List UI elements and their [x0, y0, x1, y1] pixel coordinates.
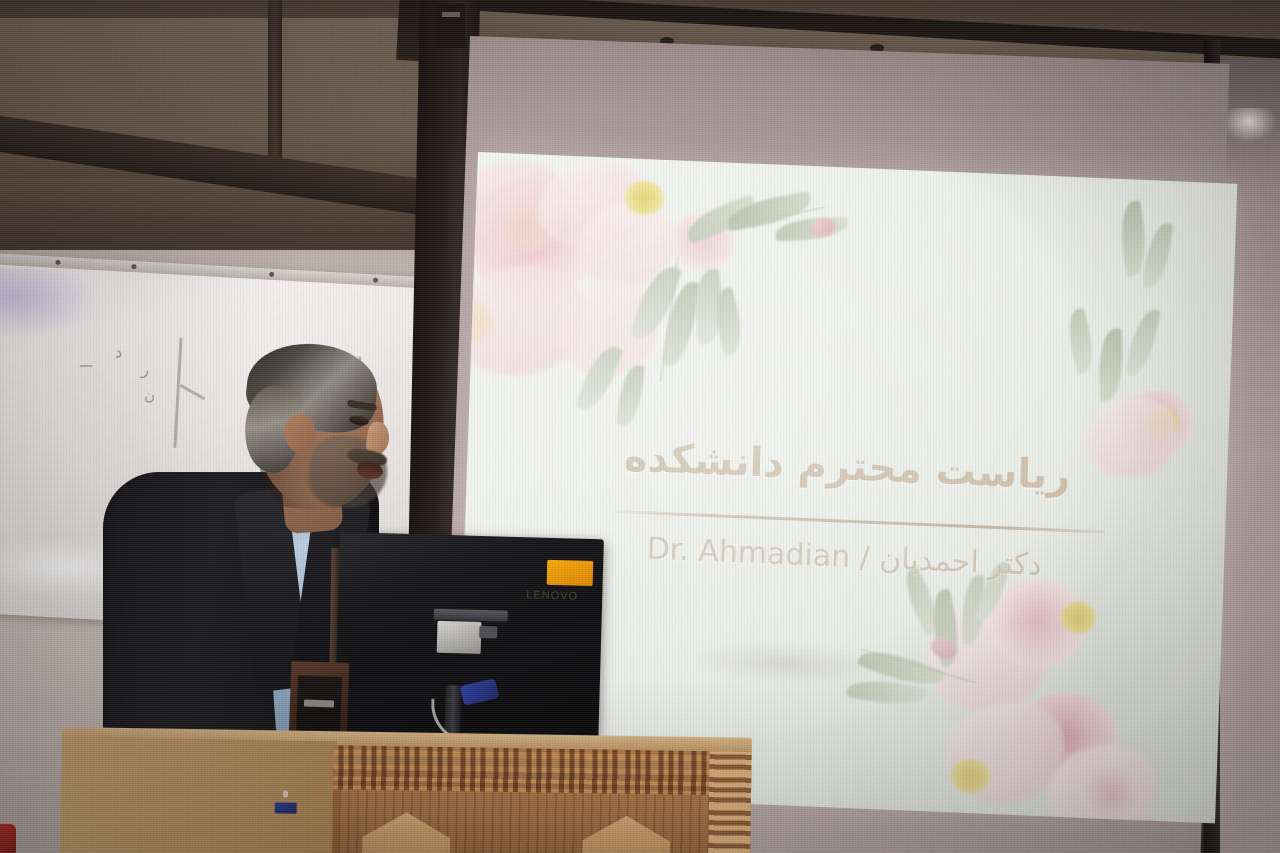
desktop-monitor[interactable]: LENOVO	[334, 532, 604, 744]
monitor-sticker	[547, 560, 594, 586]
leaf	[1125, 306, 1161, 379]
desk-name-plate-text	[304, 699, 334, 707]
vesa-mount-plate	[437, 621, 482, 654]
monitor-brand-label: LENOVO	[526, 589, 596, 604]
vesa-clip	[479, 626, 497, 638]
slide-smudge-artifact	[690, 639, 881, 687]
whiteboard-lens-flare	[0, 267, 99, 344]
podium-side-panel	[60, 737, 337, 853]
podium-sticker	[275, 802, 297, 813]
screen-mount-slot	[442, 12, 460, 17]
slide-divider-rule	[615, 510, 1105, 534]
right-wall-highlight	[1222, 108, 1276, 142]
leaf	[1062, 308, 1099, 375]
greek-key-border-right	[708, 751, 752, 853]
screen-mount-bracket	[435, 4, 465, 48]
yellow-bloom	[1060, 601, 1097, 634]
leaf	[1142, 221, 1173, 290]
podium-front-panel	[332, 745, 752, 853]
podium	[60, 727, 752, 853]
podium-mark	[283, 790, 288, 797]
greek-key-border-shading	[333, 745, 752, 796]
leaf	[1098, 328, 1124, 401]
wall-vertical-trim	[268, 0, 282, 180]
whiteboard-annotation: ـــ	[80, 355, 93, 372]
red-object	[0, 824, 16, 853]
vesa-mount-bar	[434, 609, 508, 622]
presentation-photo-scene: د ﺭ ﻥ ـــ ≈ ٨٨ = ٩ d	[0, 0, 1280, 853]
